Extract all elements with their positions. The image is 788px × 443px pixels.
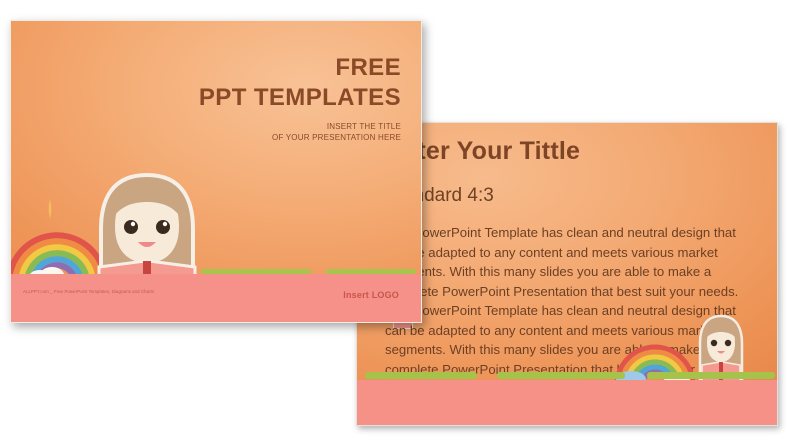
content-slide-footer-band: [357, 380, 777, 425]
logo-placeholder[interactable]: Insert LOGO: [343, 290, 399, 300]
grass-strip: [365, 372, 477, 379]
title-slide-headline: FREE PPT TEMPLATES: [199, 53, 401, 113]
subtitle-line-2: OF YOUR PRESENTATION HERE: [272, 132, 401, 143]
grass-strip: [647, 372, 775, 379]
credit-text: ALLPPT.com _ Free PowerPoint Templates, …: [23, 289, 154, 294]
sparkle-icon: [43, 199, 57, 219]
screenshot-canvas: Enter Your Tittle Standard 4:3 This Powe…: [0, 0, 788, 443]
content-slide-paragraph-1: This PowerPoint Template has clean and n…: [385, 223, 755, 301]
sparkle-svg: [43, 199, 57, 219]
subtitle-line-1: INSERT THE TITLE: [272, 121, 401, 132]
headline-line-1: FREE: [335, 54, 401, 81]
grass-strip: [497, 372, 625, 379]
headline-line-2: PPT TEMPLATES: [199, 83, 401, 113]
title-slide-subtitle: INSERT THE TITLE OF YOUR PRESENTATION HE…: [272, 121, 401, 143]
title-slide[interactable]: FREE PPT TEMPLATES INSERT THE TITLE OF Y…: [10, 20, 422, 323]
